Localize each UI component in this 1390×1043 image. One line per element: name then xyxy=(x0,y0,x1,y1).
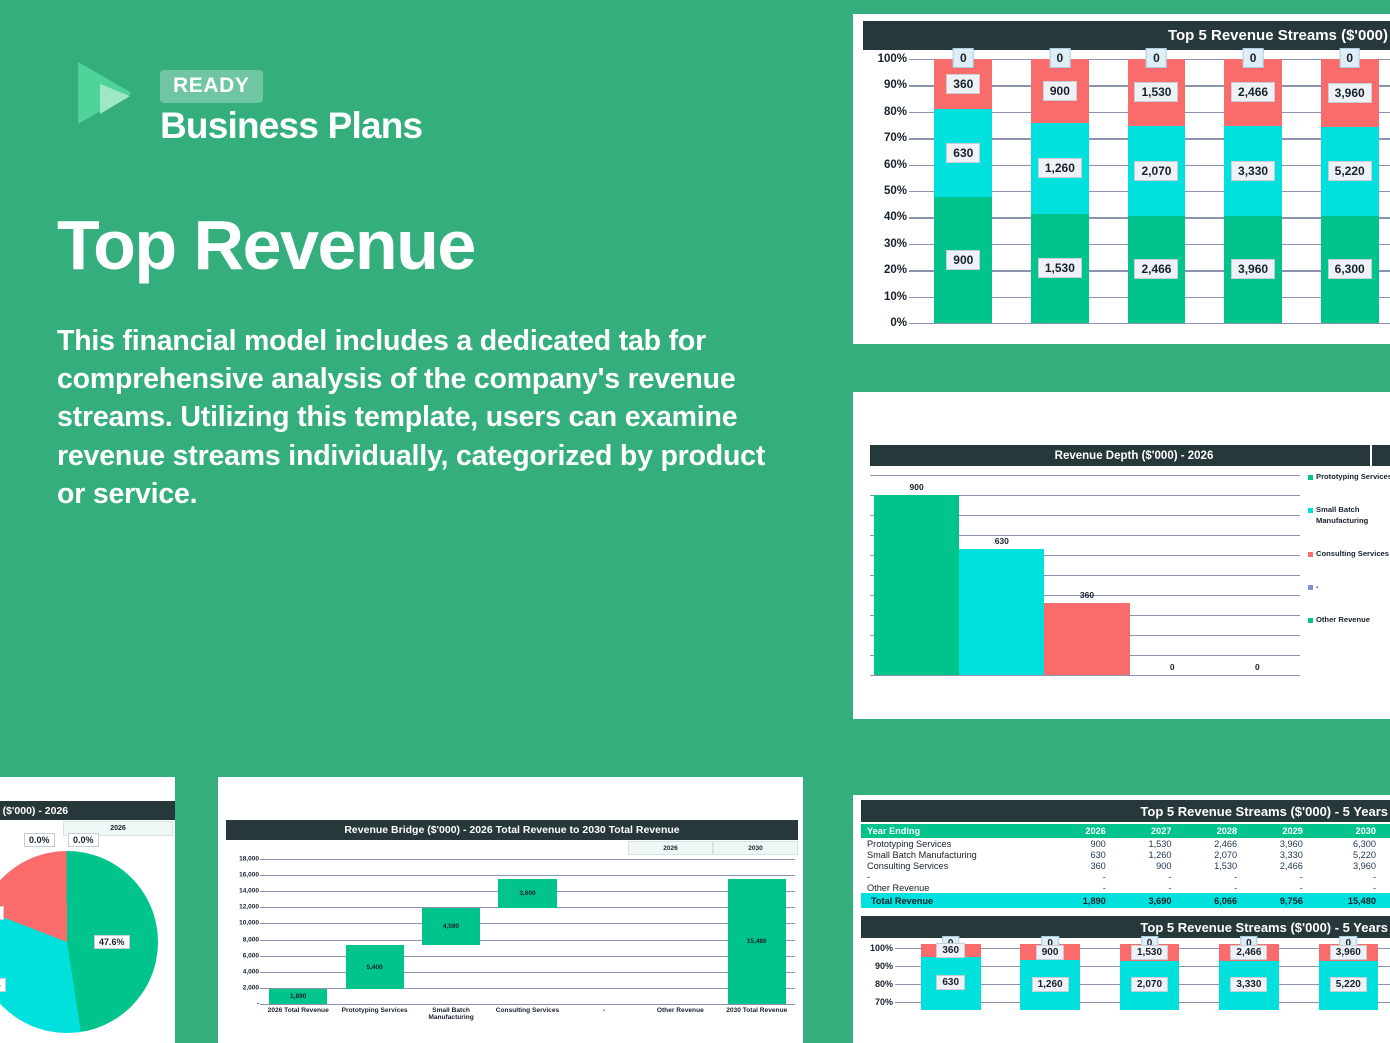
table-cell: 1,530 xyxy=(1193,860,1259,871)
bar-segment: 6,300 xyxy=(1321,216,1379,323)
bar-segment-smallbatch: 630 xyxy=(921,957,981,1010)
play-triangle-icon xyxy=(72,58,144,128)
y-tick: 100% xyxy=(870,943,893,953)
total-cell: 3,690 xyxy=(1128,893,1194,908)
table-cell: - xyxy=(1062,882,1128,893)
total-cell: 15,480 xyxy=(1325,893,1390,908)
table-row: ------ xyxy=(861,871,1390,882)
pie-label-other: 0.0% xyxy=(24,833,55,847)
waterfall-column: 15,480 xyxy=(719,859,795,1004)
y-axis-ticks: 100%90%80%70% xyxy=(861,944,895,1010)
bar-value-label: 3,600 xyxy=(519,890,535,897)
chart-card-top5-percent: Top 5 Revenue Streams ($'000) 0%10%20%30… xyxy=(853,14,1390,344)
bar-series: 036063009001,26001,5302,07002,4663,33003… xyxy=(901,944,1390,1010)
row-label: Other Revenue xyxy=(861,882,1062,893)
y-tick: 60% xyxy=(884,159,907,171)
y-tick: 12,000 xyxy=(239,904,259,911)
bar-value-label: 2,466 xyxy=(1134,259,1178,279)
waterfall-bar: 15,480 xyxy=(728,879,786,1004)
pie-label-dash: 0.0% xyxy=(68,833,99,847)
chart-title-banner: Run-Rate ($'000) - 2026 xyxy=(0,801,175,820)
x-category-label: Consulting Services xyxy=(489,1007,565,1021)
bar-value-label: 630 xyxy=(995,536,1009,546)
chart-title-banner: Revenue Bridge ($'000) - 2026 Total Reve… xyxy=(226,820,798,840)
bar-segment: 2,466 xyxy=(1224,59,1282,126)
bar-value-label: 1,530 xyxy=(1038,258,1082,278)
y-axis-ticks: 0%10%20%30%40%50%60%70%80%90%100% xyxy=(863,59,909,323)
table-cell: 900 xyxy=(1062,838,1128,849)
table-cell: - xyxy=(1325,871,1390,882)
table-header-cell: Year Ending xyxy=(861,824,1062,838)
x-category-label: Other Revenue xyxy=(642,1007,718,1021)
legend-swatch xyxy=(1308,475,1313,480)
y-axis-ticks: -2,0004,0006,0008,00010,00012,00014,0001… xyxy=(226,859,260,1004)
y-tick: 40% xyxy=(884,211,907,223)
table-header-cell: 2027 xyxy=(1128,824,1194,838)
bar-column-2029: 02,4663,3303,960 xyxy=(1205,59,1302,323)
bar-column-2029: 02,4663,330 xyxy=(1199,944,1298,1010)
bar-value-label: 1,260 xyxy=(1038,158,1082,178)
table-cell: - xyxy=(1193,882,1259,893)
bar-value-label: 900 xyxy=(910,482,924,492)
chart-legend: Prototyping ServicesSmall Batch Manufact… xyxy=(1308,472,1390,649)
bar-value-label: 3,330 xyxy=(1231,161,1275,181)
row-label: - xyxy=(861,871,1062,882)
table-row: Prototyping Services9001,5302,4663,9606,… xyxy=(861,838,1390,849)
table-row: Small Batch Manufacturing6301,2602,0703,… xyxy=(861,849,1390,860)
bar-segment: 2,466 xyxy=(1128,216,1186,323)
waterfall-bar: 5,400 xyxy=(346,945,404,989)
bar-value-label: 6,300 xyxy=(1328,259,1372,279)
pie-label-smallbatch: 33.3% xyxy=(0,978,6,992)
table-cell: 3,960 xyxy=(1325,860,1390,871)
legend-item: Consulting Services xyxy=(1308,549,1390,559)
pie-label-consulting: 19.0% xyxy=(0,906,4,920)
bar-value-label: 360 xyxy=(1080,590,1094,600)
bar-segment: 3,330 xyxy=(1224,126,1282,216)
y-tick: 100% xyxy=(878,53,907,65)
year-tab[interactable]: 2026 xyxy=(628,841,713,855)
x-category-label: 2026 Total Revenue xyxy=(260,1007,336,1021)
legend-label: Small Batch Manufacturing xyxy=(1316,505,1390,526)
table-cell: 3,960 xyxy=(1259,838,1325,849)
legend-item: - xyxy=(1308,582,1390,592)
table-header-cell: 2028 xyxy=(1193,824,1259,838)
bar-value-label: 0 xyxy=(1339,48,1360,68)
bar-value-label: 5,400 xyxy=(366,964,382,971)
bar-value-label: 900 xyxy=(946,250,980,270)
y-tick: 50% xyxy=(884,185,907,197)
ready-badge: READY xyxy=(160,70,263,103)
pie-label-prototyping: 47.6% xyxy=(94,935,130,949)
x-category-label: Prototyping Services xyxy=(336,1007,412,1021)
bar-column: 0 xyxy=(1130,475,1215,675)
bar xyxy=(1044,603,1129,675)
chart-title-banner-bottom: Top 5 Revenue Streams ($'000) - 5 Years xyxy=(861,916,1390,938)
y-tick: 0% xyxy=(890,317,907,329)
bar-segment-consulting: 360 xyxy=(921,944,981,957)
bar-value-label: 2,070 xyxy=(1131,977,1168,992)
total-label: Total Revenue xyxy=(861,893,1062,908)
chart-card-run-rate-pie: Run-Rate ($'000) - 2026 2026 0.0% 0.0% 1… xyxy=(0,777,175,1043)
table-title-banner: Top 5 Revenue Streams ($'000) - 5 Years xyxy=(861,800,1390,822)
row-label: Consulting Services xyxy=(861,860,1062,871)
brand-name: Business Plans xyxy=(160,107,422,146)
depth-plot: 90063036000 xyxy=(870,475,1300,675)
y-tick: 80% xyxy=(884,106,907,118)
bar-column-2027: 09001,2601,530 xyxy=(1012,59,1109,323)
bar-series: 036063090009001,2601,53001,5302,0702,466… xyxy=(915,59,1390,323)
legend-swatch xyxy=(1308,618,1313,623)
table-cell: 630 xyxy=(1062,849,1128,860)
waterfall-bar: 4,590 xyxy=(422,908,480,945)
table-cell: - xyxy=(1193,871,1259,882)
table-cell: - xyxy=(1062,871,1128,882)
bar-value-label: 630 xyxy=(946,143,980,163)
waterfall-bar: 3,600 xyxy=(498,879,556,908)
bar-value-label: 900 xyxy=(1043,81,1077,101)
bar-segment: 1,530 xyxy=(1128,59,1186,126)
bar-value-label: 3,330 xyxy=(1230,977,1267,992)
table-cell: 2,466 xyxy=(1259,860,1325,871)
banner-tail xyxy=(1370,445,1390,466)
bar-value-label: 0 xyxy=(1170,662,1175,672)
bar-column-2028: 01,5302,070 xyxy=(1100,944,1199,1010)
table-cell: - xyxy=(1259,882,1325,893)
bar-column-2027: 09001,260 xyxy=(1000,944,1099,1010)
bar-value-label: 15,480 xyxy=(747,938,767,945)
bar-column: 900 xyxy=(874,475,959,675)
table-cell: 3,330 xyxy=(1259,849,1325,860)
bar-value-label: 0 xyxy=(1146,48,1167,68)
legend-item: Small Batch Manufacturing xyxy=(1308,505,1390,526)
bar-segment-smallbatch: 3,330 xyxy=(1219,961,1279,1010)
bar-segment: 5,220 xyxy=(1321,127,1379,216)
table-cell: 2,070 xyxy=(1193,849,1259,860)
x-category-label: 2030 Total Revenue xyxy=(719,1007,795,1021)
bar-value-label: 1,260 xyxy=(1032,977,1069,992)
bar-value-label: 5,220 xyxy=(1330,977,1367,992)
bar-value-label: 2,466 xyxy=(1230,945,1267,960)
bar-segment: 900 xyxy=(1031,59,1089,123)
bar-value-label: 630 xyxy=(936,975,965,990)
mini-percent-chart: 100%90%80%70% 036063009001,26001,5302,07… xyxy=(861,944,1390,1014)
bar-column-2026: 0360630 xyxy=(901,944,1000,1010)
y-tick: 90% xyxy=(875,961,893,971)
total-cell: 6,066 xyxy=(1193,893,1259,908)
pie-plot: 0.0% 0.0% 19.0% 33.3% 47.6% xyxy=(0,851,158,1033)
bar-value-label: 1,530 xyxy=(1134,82,1178,102)
bar-value-label: 3,960 xyxy=(1231,259,1275,279)
table-cell: - xyxy=(1128,882,1194,893)
waterfall-column: 1,890 xyxy=(260,859,336,1004)
y-tick: 20% xyxy=(884,264,907,276)
bar-column: 0 xyxy=(1215,475,1300,675)
gridline xyxy=(909,323,1390,324)
legend-label: - xyxy=(1316,582,1319,592)
chart-title-banner: Top 5 Revenue Streams ($'000) xyxy=(863,21,1390,50)
table-header-cell: 2029 xyxy=(1259,824,1325,838)
page-description: This financial model includes a dedicate… xyxy=(57,322,767,513)
waterfall-column: 5,400 xyxy=(336,859,412,1004)
bar-column-2026: 0360630900 xyxy=(915,59,1012,323)
table-total-row: Total Revenue1,8903,6906,0669,75615,480 xyxy=(861,893,1390,908)
table-cell: 1,530 xyxy=(1128,838,1194,849)
legend-item: Prototyping Services xyxy=(1308,472,1390,482)
brand-lockup: READY Business Plans xyxy=(72,58,422,146)
bar-value-label: 4,590 xyxy=(443,923,459,930)
bar-segment-smallbatch: 2,070 xyxy=(1120,961,1180,1010)
legend-label: Consulting Services xyxy=(1316,549,1389,559)
total-cell: 9,756 xyxy=(1259,893,1325,908)
bar-segment: 1,260 xyxy=(1031,123,1089,213)
y-tick: 14,000 xyxy=(239,888,259,895)
waterfall-bars: 1,8905,4004,5903,60015,480 xyxy=(260,859,795,1004)
bar xyxy=(959,549,1044,675)
y-tick: 16,000 xyxy=(239,872,259,879)
waterfall-bar: 1,890 xyxy=(269,989,327,1004)
y-tick: - xyxy=(257,1001,259,1008)
y-tick: 18,000 xyxy=(239,856,259,863)
percent-stacked-chart: 0%10%20%30%40%50%60%70%80%90%100% 036063… xyxy=(863,59,1390,329)
bar-value-label: 0 xyxy=(1243,48,1264,68)
chart-title-banner: Revenue Depth ($'000) - 2026 xyxy=(870,445,1390,466)
bar-segment-consulting: 3,960 xyxy=(1319,944,1379,961)
total-cell: 1,890 xyxy=(1062,893,1128,908)
x-category-label: - xyxy=(566,1007,642,1021)
revenue-table: Year Ending20262027202820292030 Prototyp… xyxy=(861,824,1390,908)
bar-series: 90063036000 xyxy=(874,475,1300,675)
legend-swatch xyxy=(1308,585,1313,590)
table-cell: - xyxy=(1325,882,1390,893)
x-axis-categories: 2026 Total RevenuePrototyping ServicesSm… xyxy=(260,1007,795,1021)
table-cell: 6,300 xyxy=(1325,838,1390,849)
bar-value-label: 0 xyxy=(1255,662,1260,672)
bar-value-label: 360 xyxy=(946,74,980,94)
bar-segment: 630 xyxy=(934,109,992,197)
bar-segment-consulting: 1,530 xyxy=(1120,944,1180,961)
bridge-year-tabs[interactable]: 20262030 xyxy=(628,841,798,855)
table-cell: 1,260 xyxy=(1128,849,1194,860)
waterfall-column xyxy=(642,859,718,1004)
bar-column: 630 xyxy=(959,475,1044,675)
bar-value-label: 0 xyxy=(953,48,974,68)
bar-column-2030: 03,9605,2206,300 xyxy=(1301,59,1390,323)
bar-value-label: 3,960 xyxy=(1330,945,1367,960)
bar-segment: 3,960 xyxy=(1321,59,1379,127)
bar-segment: 1,530 xyxy=(1031,214,1089,323)
table-cell: 360 xyxy=(1062,860,1128,871)
y-tick: 8,000 xyxy=(243,936,259,943)
y-tick: 30% xyxy=(884,238,907,250)
y-tick: 6,000 xyxy=(243,952,259,959)
page-title: Top Revenue xyxy=(57,205,475,285)
year-tab[interactable]: 2030 xyxy=(713,841,798,855)
table-body: Prototyping Services9001,5302,4663,9606,… xyxy=(861,838,1390,908)
table-header-cell: 2030 xyxy=(1325,824,1390,838)
bar-value-label: 1,890 xyxy=(290,993,306,1000)
bar-value-label: 360 xyxy=(936,943,965,958)
waterfall-column: 3,600 xyxy=(489,859,565,1004)
chart-card-revenue-bridge: Revenue Bridge ($'000) - 2026 Total Reve… xyxy=(218,777,803,1043)
y-tick: 70% xyxy=(884,132,907,144)
gridline xyxy=(870,675,1300,676)
bar-segment: 2,070 xyxy=(1128,126,1186,216)
y-tick: 10% xyxy=(884,291,907,303)
legend-swatch xyxy=(1308,552,1313,557)
row-label: Prototyping Services xyxy=(861,838,1062,849)
table-cell: - xyxy=(1128,871,1194,882)
waterfall-column xyxy=(566,859,642,1004)
bar-column: 360 xyxy=(1044,475,1129,675)
row-label: Small Batch Manufacturing xyxy=(861,849,1062,860)
y-tick: 2,000 xyxy=(243,984,259,991)
bar-column-2030: 03,9605,220 xyxy=(1299,944,1390,1010)
y-tick: 10,000 xyxy=(239,920,259,927)
bar-value-label: 2,070 xyxy=(1134,161,1178,181)
legend-label: Other Revenue xyxy=(1316,615,1370,625)
table-card-top5-5years: Top 5 Revenue Streams ($'000) - 5 Years … xyxy=(853,795,1390,1043)
table-cell: 5,220 xyxy=(1325,849,1390,860)
bar-value-label: 0 xyxy=(1050,48,1071,68)
bar-segment-smallbatch: 5,220 xyxy=(1319,961,1379,1010)
y-tick: 80% xyxy=(875,979,893,989)
bar-column-2028: 01,5302,0702,466 xyxy=(1108,59,1205,323)
bar-value-label: 5,220 xyxy=(1328,161,1372,181)
bar-value-label: 900 xyxy=(1036,945,1065,960)
bar-segment-consulting: 900 xyxy=(1020,944,1080,960)
legend-item: Other Revenue xyxy=(1308,615,1390,625)
table-row: Other Revenue----- xyxy=(861,882,1390,893)
bar-segment-smallbatch: 1,260 xyxy=(1020,960,1080,1010)
bar xyxy=(874,495,959,675)
legend-label: Prototyping Services xyxy=(1316,472,1390,482)
bar-segment-consulting: 2,466 xyxy=(1219,944,1279,961)
pie-disc xyxy=(0,851,158,1033)
bar-value-label: 3,960 xyxy=(1328,83,1372,103)
y-tick: 70% xyxy=(875,997,893,1007)
bar-segment: 3,960 xyxy=(1224,216,1282,323)
table-header-cell: 2026 xyxy=(1062,824,1128,838)
y-tick: 4,000 xyxy=(243,968,259,975)
table-cell: 2,466 xyxy=(1193,838,1259,849)
bridge-plot: -2,0004,0006,0008,00010,00012,00014,0001… xyxy=(226,859,795,1024)
x-category-label: Small Batch Manufacturing xyxy=(413,1007,489,1021)
table-header-row: Year Ending20262027202820292030 xyxy=(861,824,1390,838)
table-cell: 900 xyxy=(1128,860,1194,871)
bar-segment: 900 xyxy=(934,197,992,323)
y-tick: 90% xyxy=(884,79,907,91)
bar-value-label: 2,466 xyxy=(1231,82,1275,102)
chart-card-revenue-depth: Revenue Depth ($'000) - 2026 90063036000… xyxy=(853,392,1390,719)
table-row: Consulting Services3609001,5302,4663,960 xyxy=(861,860,1390,871)
gridline xyxy=(260,1004,795,1005)
table-cell: - xyxy=(1259,871,1325,882)
waterfall-column: 4,590 xyxy=(413,859,489,1004)
legend-swatch xyxy=(1308,508,1313,513)
bar-value-label: 1,530 xyxy=(1131,945,1168,960)
